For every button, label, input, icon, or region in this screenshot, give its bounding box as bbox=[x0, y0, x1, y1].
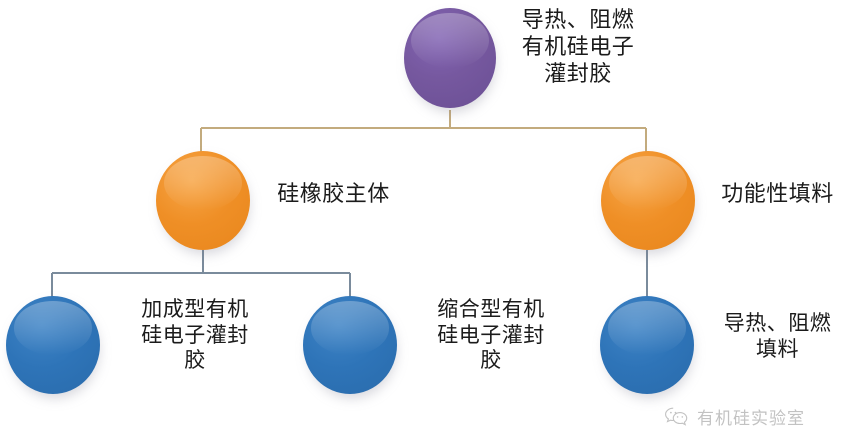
mid-left-circle[interactable] bbox=[156, 151, 250, 250]
node-mid-left-label: 硅橡胶主体 bbox=[256, 182, 411, 209]
wechat-icon bbox=[664, 406, 690, 428]
node-leaf-2-label: 缩合型有机 硅电子灌封 胶 bbox=[400, 297, 582, 374]
node-root-label: 导热、阻燃 有机硅电子 灌封胶 bbox=[498, 8, 658, 88]
leaf-3-circle[interactable] bbox=[600, 296, 694, 394]
node-leaf-3-label: 导热、阻燃 填料 bbox=[700, 311, 855, 362]
connector-midleft-to-leaves bbox=[52, 250, 350, 297]
root-circle[interactable] bbox=[404, 8, 496, 108]
node-mid-right-label: 功能性填料 bbox=[700, 182, 855, 209]
leaf-2-circle[interactable] bbox=[303, 296, 397, 394]
watermark: 有机硅实验室 bbox=[664, 404, 805, 429]
watermark-text: 有机硅实验室 bbox=[697, 404, 805, 429]
node-leaf-1-label: 加成型有机 硅电子灌封 胶 bbox=[104, 297, 286, 374]
leaf-1-circle[interactable] bbox=[6, 296, 100, 394]
mid-right-circle[interactable] bbox=[601, 151, 695, 250]
connector-root-to-level2 bbox=[201, 110, 646, 152]
diagram-canvas: 导热、阻燃 有机硅电子 灌封胶 硅橡胶主体 功能性填料 加成型有机 硅电子灌封 … bbox=[0, 0, 855, 439]
